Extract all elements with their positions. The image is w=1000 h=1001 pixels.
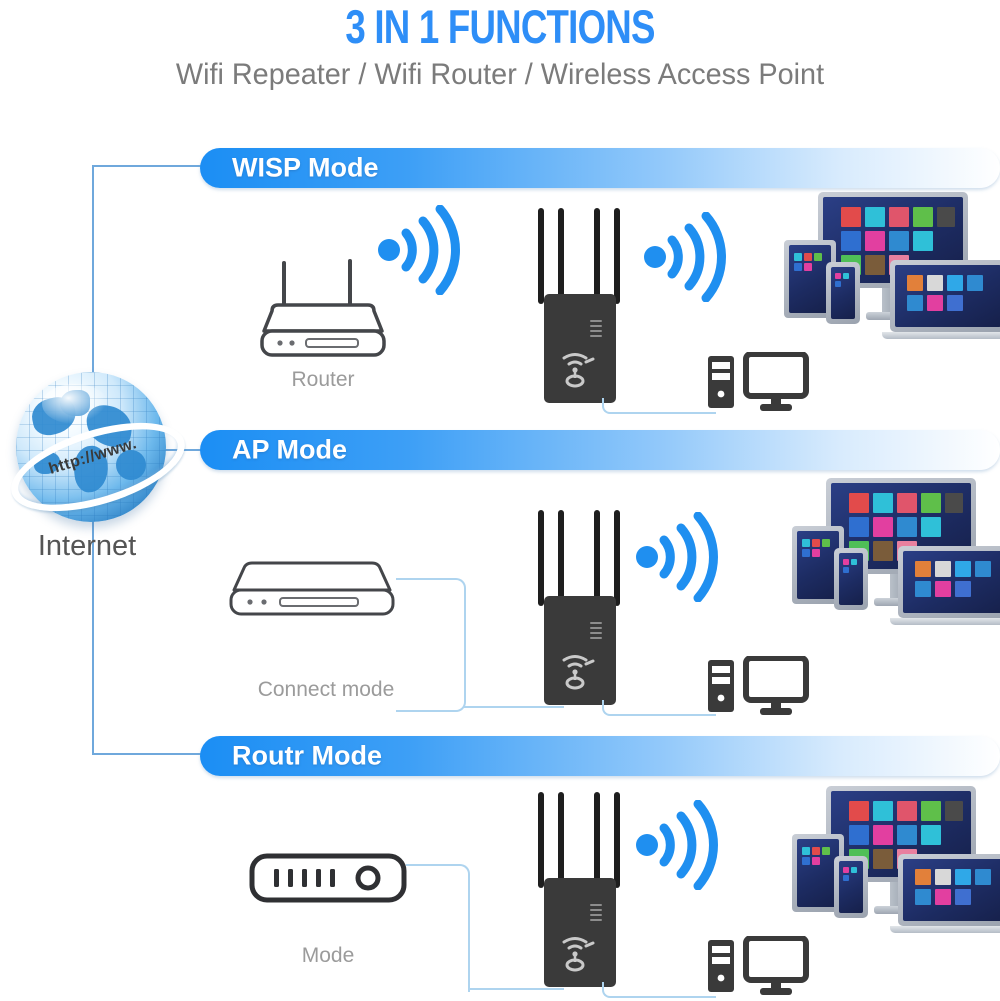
banner-ap-label: AP Mode xyxy=(232,435,347,466)
wifi-signal-icon xyxy=(634,512,718,602)
modem-caption: Connect mode xyxy=(228,678,424,702)
wifi-extender-icon xyxy=(528,208,632,403)
internet-globe: http://www. xyxy=(8,368,178,533)
router-icon xyxy=(258,255,388,360)
ethernet-cable xyxy=(396,578,466,712)
ethernet-cable xyxy=(468,988,564,992)
desktop-pc-icon xyxy=(706,936,810,996)
desktop-pc-icon xyxy=(706,656,810,716)
internet-label: Internet xyxy=(0,530,182,563)
device-cluster-icon xyxy=(786,786,1000,936)
laptop-base xyxy=(890,926,1000,933)
wifi-signal-icon xyxy=(642,212,726,302)
laptop-base xyxy=(890,618,1000,625)
device-cluster-icon xyxy=(778,192,1000,342)
page-title: 3 IN 1 FUNCTIONS xyxy=(110,2,890,52)
device-cluster-icon xyxy=(786,478,1000,628)
modem-icon xyxy=(228,560,396,618)
phone-device xyxy=(834,548,868,610)
ethernet-cable xyxy=(602,982,716,998)
banner-ap-mode[interactable]: AP Mode xyxy=(200,430,1000,470)
banner-wisp-mode[interactable]: WISP Mode xyxy=(200,148,1000,188)
router-caption: Router xyxy=(258,368,388,392)
laptop-device xyxy=(898,546,1000,618)
page-subtitle: Wifi Repeater / Wifi Router / Wireless A… xyxy=(20,58,980,92)
wifi-signal-icon xyxy=(376,205,460,295)
modem-small-icon xyxy=(248,852,408,904)
ethernet-cable xyxy=(602,398,716,414)
laptop-base xyxy=(882,332,1000,339)
wifi-extender-icon xyxy=(528,792,632,987)
ethernet-cable xyxy=(464,706,564,710)
wifi-signal-icon xyxy=(634,800,718,890)
infographic-canvas: 3 IN 1 FUNCTIONS Wifi Repeater / Wifi Ro… xyxy=(0,0,1000,1000)
banner-router-mode[interactable]: Routr Mode xyxy=(200,736,1000,776)
desktop-pc-icon xyxy=(706,352,810,412)
banner-wisp-label: WISP Mode xyxy=(232,153,379,184)
modem-small-caption: Mode xyxy=(248,944,408,968)
wifi-extender-icon xyxy=(528,510,632,705)
laptop-device xyxy=(898,854,1000,926)
connector-line-wisp-horizontal xyxy=(92,165,210,167)
banner-router-label: Routr Mode xyxy=(232,741,382,772)
ethernet-cable xyxy=(406,864,470,992)
phone-device xyxy=(826,262,860,324)
connector-line-router-horizontal xyxy=(92,753,210,755)
phone-device xyxy=(834,856,868,918)
ethernet-cable xyxy=(602,700,716,716)
laptop-device xyxy=(890,260,1000,332)
